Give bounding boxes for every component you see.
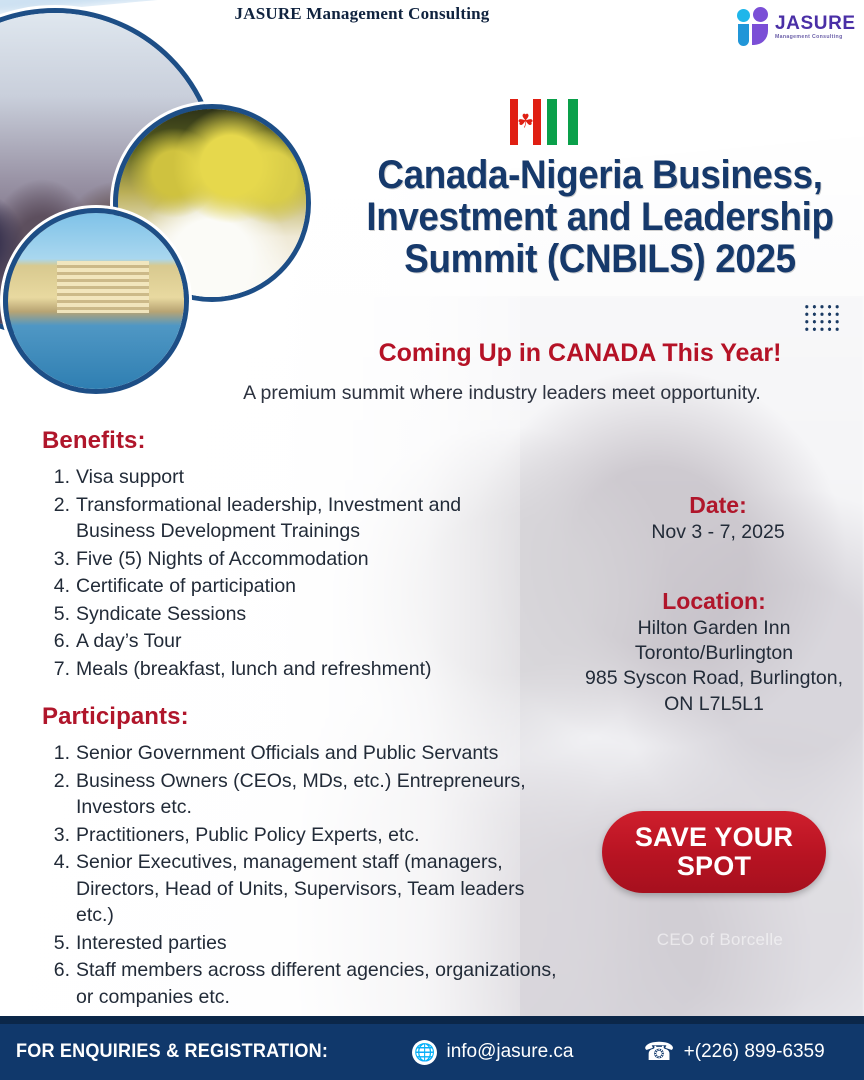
participants-list: 1.Senior Government Officials and Public…: [46, 740, 566, 1011]
list-item: 5.Interested parties: [46, 930, 566, 957]
list-item-number: 4.: [46, 573, 70, 600]
event-poster: JASURE Management Consulting JASURE Mana…: [0, 0, 864, 1080]
location-line-2: Toronto/Burlington: [564, 641, 864, 666]
list-item: 7.Meals (breakfast, lunch and refreshmen…: [46, 656, 526, 683]
telephone-icon: ☎: [644, 1040, 675, 1065]
list-item: 4.Certificate of participation: [46, 573, 526, 600]
date-block: Date: Nov 3 - 7, 2025: [572, 492, 864, 545]
list-item-label: Syndicate Sessions: [76, 603, 246, 625]
list-item: 3.Five (5) Nights of Accommodation: [46, 546, 526, 573]
list-item-label: A day’s Tour: [76, 630, 182, 652]
date-heading: Date:: [572, 492, 864, 520]
flags-row: ☘: [510, 99, 578, 145]
location-line-1: Hilton Garden Inn: [564, 616, 864, 641]
list-item-label: Senior Executives, management staff (man…: [76, 851, 524, 926]
location-heading: Location:: [564, 588, 864, 616]
footer-bar: FOR ENQUIRIES & REGISTRATION: 🌐 info@jas…: [0, 1020, 864, 1080]
list-item-number: 1.: [46, 740, 70, 767]
list-item-label: Practitioners, Public Policy Experts, et…: [76, 824, 420, 846]
list-item: 2.Transformational leadership, Investmen…: [46, 492, 526, 545]
list-item-label: Meals (breakfast, lunch and refreshment): [76, 658, 432, 680]
list-item: 5.Syndicate Sessions: [46, 601, 526, 628]
list-item-label: Certificate of participation: [76, 575, 296, 597]
list-item-label: Visa support: [76, 466, 184, 488]
logo-tagline: Management Consulting: [775, 35, 856, 40]
list-item: 1.Senior Government Officials and Public…: [46, 740, 566, 767]
footer-phone-text: +(226) 899-6359: [684, 1041, 825, 1063]
list-item-number: 5.: [46, 601, 70, 628]
list-item-number: 6.: [46, 628, 70, 655]
date-value: Nov 3 - 7, 2025: [572, 520, 864, 545]
list-item-label: Staff members across different agencies,…: [76, 959, 557, 1008]
list-item: 1.Visa support: [46, 464, 526, 491]
list-item-label: Transformational leadership, Investment …: [76, 494, 461, 543]
list-item: 2.Business Owners (CEOs, MDs, etc.) Entr…: [46, 768, 566, 821]
footer-email-text: info@jasure.ca: [446, 1041, 573, 1063]
benefits-heading: Benefits:: [42, 427, 146, 455]
hero-tagline: Coming Up in CANADA This Year!: [300, 340, 860, 368]
nigeria-flag: [547, 99, 578, 145]
list-item-label: Senior Government Officials and Public S…: [76, 742, 498, 764]
list-item-number: 2.: [46, 768, 70, 795]
list-item-label: Five (5) Nights of Accommodation: [76, 548, 369, 570]
page-title: Canada-Nigeria Business, Investment and …: [361, 154, 839, 280]
globe-icon: 🌐: [412, 1040, 437, 1065]
list-item-number: 6.: [46, 957, 70, 984]
list-item-label: Business Owners (CEOs, MDs, etc.) Entrep…: [76, 770, 526, 819]
logo-name: JASURE: [775, 14, 856, 33]
benefits-list: 1.Visa support2.Transformational leaders…: [46, 464, 526, 683]
footer-email[interactable]: 🌐 info@jasure.ca: [412, 1040, 573, 1065]
dot-grid-decoration: [803, 303, 841, 333]
watermark-text: CEO of Borcelle: [600, 930, 840, 950]
footer-label: FOR ENQUIRIES & REGISTRATION:: [16, 1041, 328, 1063]
list-item-number: 3.: [46, 546, 70, 573]
list-item: 4.Senior Executives, management staff (m…: [46, 849, 566, 929]
footer-phone[interactable]: ☎ +(226) 899-6359: [644, 1040, 825, 1065]
hero-subtagline: A premium summit where industry leaders …: [140, 382, 864, 405]
list-item: 3.Practitioners, Public Policy Experts, …: [46, 822, 566, 849]
list-item-number: 1.: [46, 464, 70, 491]
list-item-number: 5.: [46, 930, 70, 957]
list-item-label: Interested parties: [76, 932, 227, 954]
location-line-3: 985 Syscon Road, Burlington,: [564, 666, 864, 691]
save-your-spot-button[interactable]: SAVE YOUR SPOT: [602, 811, 826, 893]
list-item-number: 2.: [46, 492, 70, 519]
jasure-logo-icon: [736, 7, 770, 47]
location-block: Location: Hilton Garden Inn Toronto/Burl…: [564, 588, 864, 717]
list-item: 6.Staff members across different agencie…: [46, 957, 566, 1010]
photo-circle-hotel: [3, 208, 189, 394]
org-title: JASURE Management Consulting: [0, 4, 864, 24]
list-item-number: 4.: [46, 849, 70, 876]
maple-leaf-icon: ☘: [517, 113, 534, 132]
jasure-logo: JASURE Management Consulting: [736, 5, 854, 49]
participants-heading: Participants:: [42, 703, 189, 731]
location-line-4: ON L7L5L1: [564, 692, 864, 717]
list-item-number: 7.: [46, 656, 70, 683]
list-item: 6.A day’s Tour: [46, 628, 526, 655]
list-item-number: 3.: [46, 822, 70, 849]
canada-flag: ☘: [510, 99, 541, 145]
